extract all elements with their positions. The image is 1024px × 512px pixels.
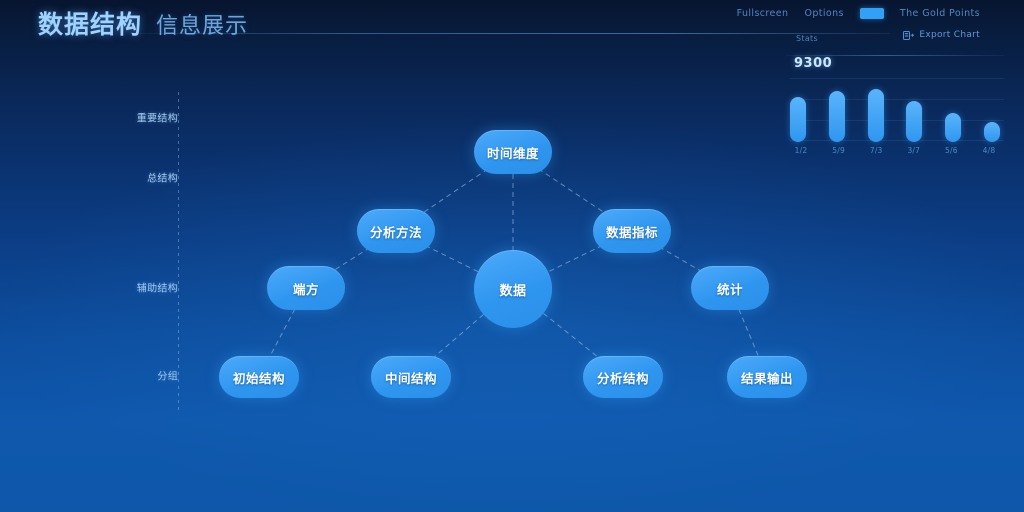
mini-chart-x-label: 4/8 (978, 146, 1000, 155)
mini-bar-chart: Stats 9300 1/25/97/33/75/64/8 (786, 34, 1004, 162)
mini-chart-bar[interactable] (906, 101, 922, 142)
header: 数据结构 信息展示 Fullscreen Options The Gold Po… (0, 0, 1024, 46)
graph-node-label: 分析结构 (597, 368, 649, 387)
graph-node-label: 统计 (717, 279, 743, 298)
export-icon (903, 31, 914, 40)
graph-edge (332, 247, 370, 271)
graph-edge (538, 169, 606, 214)
graph-edge (432, 314, 484, 359)
mini-chart-x-label: 5/9 (828, 146, 850, 155)
graph-node-label: 分析方法 (370, 222, 422, 241)
graph-node-mid-right[interactable]: 数据指标 (593, 209, 671, 253)
graph-edge (548, 245, 602, 272)
graph-node-leaf-4[interactable]: 结果输出 (727, 356, 807, 398)
graph-edge (739, 309, 759, 356)
mini-chart-x-label: 3/7 (903, 146, 925, 155)
menu-item-gold-points[interactable]: The Gold Points (900, 8, 980, 19)
dashboard-root: 数据结构 信息展示 Fullscreen Options The Gold Po… (0, 0, 1024, 512)
graph-node-leaf-2[interactable]: 中间结构 (371, 356, 451, 398)
mini-chart-x-label: 5/6 (940, 146, 962, 155)
graph-node-left[interactable]: 端方 (267, 266, 345, 310)
header-menu: Fullscreen Options The Gold Points (737, 8, 980, 19)
mini-chart-bar[interactable] (829, 91, 845, 142)
graph-edge (421, 169, 488, 214)
graph-node-leaf-1[interactable]: 初始结构 (219, 356, 299, 398)
graph-node-mid-left[interactable]: 分析方法 (357, 209, 435, 253)
menu-item-fullscreen[interactable]: Fullscreen (737, 8, 789, 19)
mini-chart-x-labels: 1/25/97/33/75/64/8 (790, 146, 1000, 155)
page-title-main: 数据结构 (38, 5, 142, 41)
header-divider (130, 33, 890, 34)
mini-chart-x-label: 1/2 (790, 146, 812, 155)
color-swatch-icon[interactable] (860, 8, 884, 19)
export-chart-label: Export Chart (919, 30, 980, 40)
graph-edge (425, 246, 478, 272)
mini-chart-bar[interactable] (868, 89, 884, 142)
graph-node-label: 中间结构 (385, 368, 437, 387)
mini-chart-bar[interactable] (790, 97, 806, 142)
graph-edge (543, 313, 601, 359)
graph-node-leaf-3[interactable]: 分析结构 (583, 356, 663, 398)
mini-chart-x-label: 7/3 (865, 146, 887, 155)
page-title: 数据结构 信息展示 (38, 5, 248, 41)
page-title-sub: 信息展示 (156, 8, 248, 40)
mini-chart-bar[interactable] (945, 113, 961, 142)
mini-chart-gridline (790, 78, 1004, 79)
graph-node-root[interactable]: 数据 (474, 250, 552, 328)
graph-node-top[interactable]: 时间维度 (474, 130, 552, 174)
graph-node-label: 数据 (499, 280, 526, 299)
mini-chart-value: 9300 (794, 56, 832, 71)
graph-edge (659, 247, 703, 272)
mini-chart-bars (790, 80, 1000, 142)
graph-node-label: 结果输出 (741, 368, 793, 387)
graph-node-label: 端方 (293, 279, 319, 298)
graph-node-right[interactable]: 统计 (691, 266, 769, 310)
graph-node-label: 时间维度 (487, 143, 539, 162)
graph-edge (270, 309, 295, 357)
mini-chart-bar[interactable] (984, 122, 1000, 142)
graph-node-label: 初始结构 (233, 368, 285, 387)
menu-item-options[interactable]: Options (804, 8, 843, 19)
export-chart-button[interactable]: Export Chart (903, 30, 980, 40)
graph-node-label: 数据指标 (606, 222, 658, 241)
